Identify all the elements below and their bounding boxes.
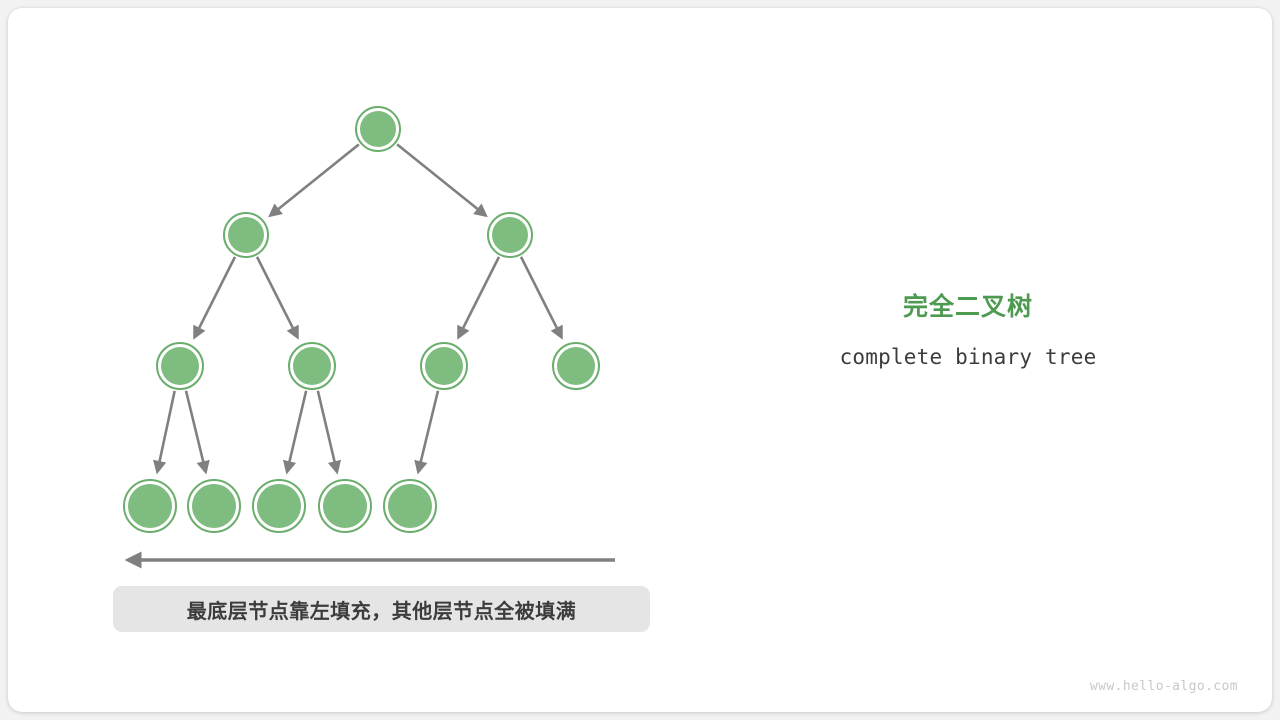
diagram-canvas: 完全二叉树 complete binary tree 最底层节点靠左填充，其他层… [0,0,1280,720]
node-fill [228,217,264,253]
tree-edge [521,257,562,338]
tree-edge [194,257,235,338]
tree-node [421,343,467,389]
tree-edge [318,391,337,472]
tree-node [124,480,176,532]
tree-node [384,480,436,532]
tree-edge [397,144,486,215]
node-fill [360,111,396,147]
tree-node [319,480,371,532]
node-fill [425,347,463,385]
tree-node [356,107,400,151]
tree-node [224,213,268,257]
tree-edge [257,257,298,338]
tree-node [253,480,305,532]
node-fill [128,484,172,528]
tree-edge [186,391,206,472]
tree-nodes-group [124,107,599,532]
caption-label: 最底层节点靠左填充，其他层节点全被填满 [187,595,577,624]
node-fill [257,484,301,528]
tree-node [553,343,599,389]
legend-text-block: 完全二叉树 complete binary tree [788,292,1148,369]
tree-edge [270,144,359,215]
node-fill [192,484,236,528]
caption-pill: 最底层节点靠左填充，其他层节点全被填满 [113,586,650,632]
diagram-subtitle-en: complete binary tree [788,345,1148,369]
diagram-title-cn: 完全二叉树 [788,292,1148,322]
tree-edges-group [157,144,561,472]
node-fill [557,347,595,385]
tree-node [188,480,240,532]
tree-edge [157,391,174,472]
tree-node [157,343,203,389]
tree-edge [458,257,499,338]
tree-node [488,213,532,257]
footer-url-label: www.hello-algo.com [1090,679,1238,694]
node-fill [388,484,432,528]
tree-node [289,343,335,389]
node-fill [323,484,367,528]
node-fill [161,347,199,385]
node-fill [492,217,528,253]
tree-edge [287,391,306,472]
node-fill [293,347,331,385]
tree-edge [418,391,438,472]
